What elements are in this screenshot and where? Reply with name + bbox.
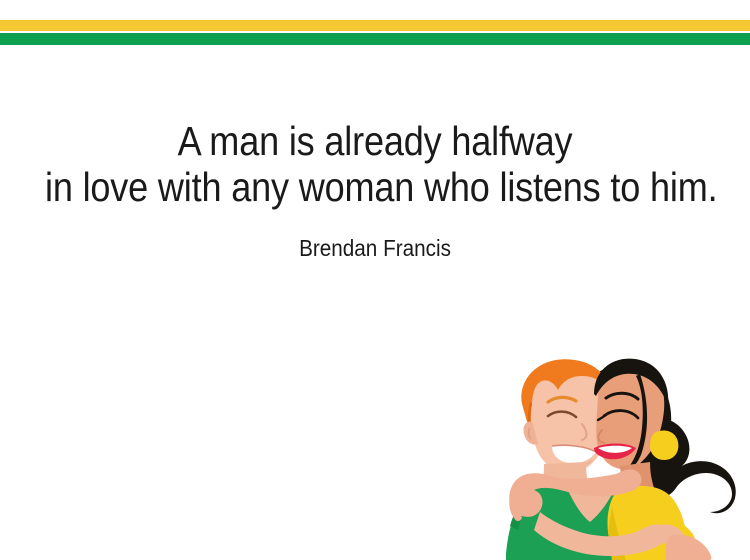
green-stripe [0, 33, 750, 45]
quote-line-2: in love with any woman who listens to hi… [45, 164, 705, 210]
quote-block: A man is already halfway in love with an… [0, 118, 750, 210]
woman-hair-tie-icon [650, 430, 678, 460]
yellow-stripe [0, 20, 750, 31]
woman-leg [665, 535, 711, 560]
quote-line-1: A man is already halfway [45, 118, 705, 164]
slide-canvas: A man is already halfway in love with an… [0, 0, 750, 560]
quote-attribution: Brendan Francis [38, 234, 713, 262]
couple-hugging-illustration [470, 340, 750, 560]
